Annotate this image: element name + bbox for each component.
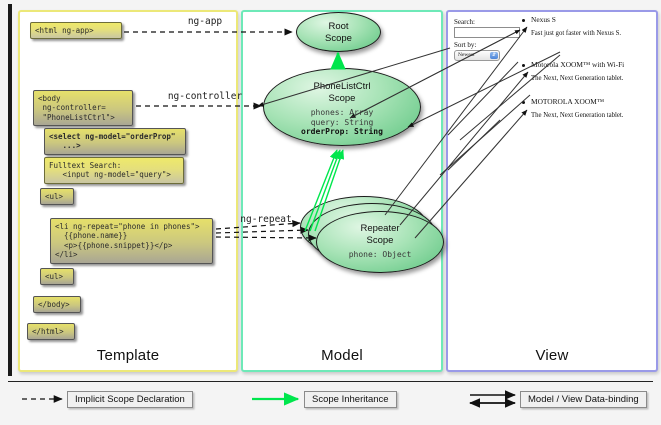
legend-glyph-model-view-data-binding: [470, 395, 515, 403]
legend-divider: [8, 381, 653, 382]
scope-repeater: Repeater Scope phone: Object: [316, 211, 444, 273]
legend-item-implicit-scope-declaration: Implicit Scope Declaration: [67, 391, 193, 408]
view-sort-select-value: Newest: [458, 52, 475, 58]
scope-root-title-2: Scope: [297, 33, 380, 45]
scope-repeater-title-1: Repeater: [317, 223, 443, 235]
view-phone-snippet: Fast just got faster with Nexus S.: [531, 30, 621, 37]
diagram-canvas: Template Model View <html ng-app> <body …: [0, 0, 661, 425]
code-box-fulltext-search: Fulltext Search: <input ng-model="query"…: [44, 157, 184, 184]
list-bullet: [522, 64, 525, 67]
scope-prop-phone: phone: Object: [317, 250, 443, 260]
scope-prop-phones: phones: Array: [264, 108, 420, 118]
view-phone-name: Nexus S: [531, 15, 556, 24]
scope-root-title-1: Root: [297, 21, 380, 33]
code-box-ul-open-2: <ul>: [40, 268, 74, 285]
scope-root: Root Scope: [296, 12, 381, 52]
scope-prop-orderprop: orderProp: String: [264, 127, 420, 137]
scope-phonelistctrl-title-2: Scope: [264, 93, 420, 105]
code-box-li-ng-repeat: <li ng-repeat="phone in phones"> {{phone…: [50, 218, 213, 264]
code-box-body-tag: <body ng-controller= "PhoneListCtrl">: [33, 90, 133, 126]
lane-label-template: Template: [20, 347, 236, 364]
lane-label-model: Model: [243, 347, 441, 364]
view-search-input[interactable]: [454, 27, 520, 38]
view-phone-name: Motorola XOOM™ with Wi-Fi: [531, 60, 624, 69]
lane-model: Model: [241, 10, 443, 372]
scope-prop-query: query: String: [264, 118, 420, 128]
view-search-label: Search:: [454, 18, 475, 26]
code-box-body-close: </body>: [33, 296, 81, 313]
legend-item-model-view-data-binding: Model / View Data-binding: [520, 391, 647, 408]
code-box-html-tag: <html ng-app>: [30, 22, 122, 39]
view-phone-snippet: The Next, Next Generation tablet.: [531, 112, 623, 119]
code-box-select-tag: <select ng-model="orderProp" ...>: [44, 128, 186, 155]
list-bullet: [522, 101, 525, 104]
left-edge-bar: [8, 4, 12, 376]
view-sort-label: Sort by:: [454, 41, 476, 49]
code-box-html-close: </html>: [27, 323, 75, 340]
view-phone-snippet: The Next, Next Generation tablet.: [531, 75, 623, 82]
code-box-ul-open-1: <ul>: [40, 188, 74, 205]
legend-item-scope-inheritance: Scope Inheritance: [304, 391, 397, 408]
scope-repeater-title-2: Scope: [317, 235, 443, 247]
lane-label-view: View: [448, 347, 656, 364]
list-bullet: [522, 19, 525, 22]
view-sort-select[interactable]: Newest ⇵: [454, 50, 500, 61]
chevron-down-icon: ⇵: [490, 52, 498, 59]
scope-phonelistctrl: PhoneListCtrl Scope phones: Array query:…: [263, 68, 421, 146]
view-phone-name: MOTOROLA XOOM™: [531, 97, 604, 106]
scope-phonelistctrl-title-1: PhoneListCtrl: [264, 81, 420, 93]
